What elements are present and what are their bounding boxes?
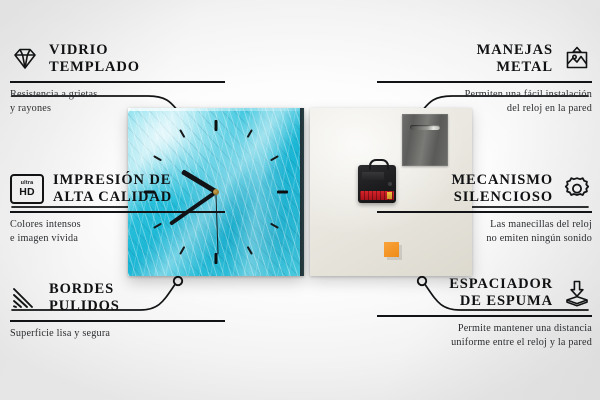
glass-edge (300, 108, 304, 276)
feature-description: Resistencia a grietas y rayones (10, 88, 225, 115)
feature-manejas-metal: MANEJAS METAL Permiten una fácil instala… (377, 42, 592, 115)
feature-title: VIDRIO TEMPLADO (49, 42, 140, 76)
feature-description: Permite mantener una distancia uniforme … (377, 322, 592, 349)
feature-rule (10, 320, 225, 322)
feature-title: IMPRESIÓN DE ALTA CALIDAD (53, 172, 172, 206)
feature-header: VIDRIO TEMPLADO (10, 42, 225, 76)
feature-title: BORDES PULIDOS (49, 281, 120, 315)
feature-header: MECANISMO SILENCIOSO (377, 172, 592, 206)
feature-title: ESPACIADOR DE ESPUMA (449, 276, 553, 310)
feature-header: BORDES PULIDOS (10, 281, 225, 315)
feature-title: MECANISMO SILENCIOSO (451, 172, 553, 206)
feature-header: ESPACIADOR DE ESPUMA (377, 276, 592, 310)
metal-hanger-plate (402, 114, 448, 166)
feature-rule (377, 315, 592, 317)
feature-mecanismo-silencioso: MECANISMO SILENCIOSO Las manecillas del … (377, 172, 592, 245)
gear-icon (562, 175, 592, 203)
polished-edges-icon (10, 284, 40, 312)
feature-rule (377, 81, 592, 83)
infographic-canvas: VIDRIO TEMPLADO Resistencia a grietas y … (0, 0, 600, 400)
feature-header: ultra HD IMPRESIÓN DE ALTA CALIDAD (10, 172, 225, 206)
ultra-hd-icon-main-label: HD (19, 187, 35, 198)
mechanism-hanger-loop (369, 159, 389, 170)
feature-description: Permiten una fácil instalación del reloj… (377, 88, 592, 115)
feature-espaciador-espuma: ESPACIADOR DE ESPUMA Permite mantener un… (377, 276, 592, 349)
feature-impresion-alta-calidad: ultra HD IMPRESIÓN DE ALTA CALIDAD Color… (10, 172, 225, 245)
feature-vidrio-templado: VIDRIO TEMPLADO Resistencia a grietas y … (10, 42, 225, 115)
diamond-icon (10, 45, 40, 73)
feature-header: MANEJAS METAL (377, 42, 592, 76)
feature-description: Las manecillas del reloj no emiten ningú… (377, 218, 592, 245)
feature-rule (377, 211, 592, 213)
feature-rule (10, 81, 225, 83)
feature-description: Superficie lisa y segura (10, 327, 225, 340)
foam-spacer-icon (562, 279, 592, 307)
feature-description: Colores intensos e imagen vívida (10, 218, 225, 245)
ultra-hd-icon: ultra HD (10, 174, 44, 204)
feature-rule (10, 211, 225, 213)
picture-hanger-icon (562, 45, 592, 73)
feature-bordes-pulidos: BORDES PULIDOS Superficie lisa y segura (10, 281, 225, 341)
feature-title: MANEJAS METAL (477, 42, 553, 76)
hanger-slot (410, 125, 440, 130)
